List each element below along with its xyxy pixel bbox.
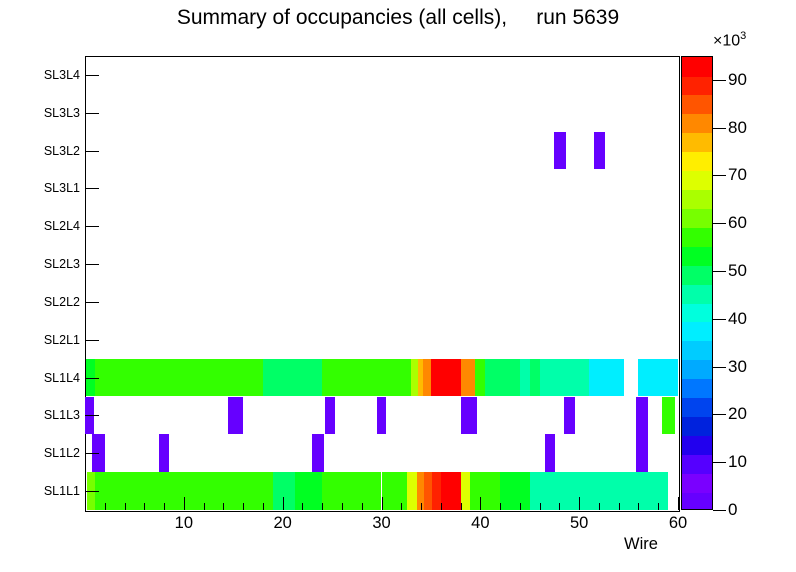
page-title: Summary of occupancies (all cells), run … [0,6,796,30]
x-axis-tick [480,497,481,510]
x-axis-tick [223,503,224,510]
color-bar-band [682,284,712,304]
color-bar-tick-label: 40 [728,309,747,329]
x-axis-tick [599,503,600,510]
color-bar-band [682,57,712,77]
y-axis-tick [85,151,99,152]
root-canvas: Summary of occupancies (all cells), run … [0,0,796,572]
x-axis-tick [500,503,501,510]
x-axis-tick [184,497,185,510]
color-bar-band [682,133,712,153]
x-axis-tick-label: 50 [570,514,588,533]
x-axis-tick [85,503,86,510]
y-axis-tick [85,113,99,114]
x-axis-tick [559,503,560,510]
x-axis-tick-label: 40 [471,514,489,533]
y-axis-tick [85,415,99,416]
x-axis-tick [322,503,323,510]
x-axis-tick [144,503,145,510]
color-bar-tick [713,414,726,415]
y-axis-tick [85,264,99,265]
color-bar-tick [713,367,726,368]
color-bar-exponent-prefix: ×10 [713,32,740,49]
x-axis-tick [283,497,284,510]
x-axis-tick [579,497,580,510]
color-bar-band [682,492,712,510]
color-bar[interactable] [681,56,713,510]
x-axis-tick-label: 30 [372,514,390,533]
color-bar-tick-label: 50 [728,261,747,281]
x-axis-tick [302,503,303,510]
y-axis-tick [85,226,99,227]
color-bar-band [682,473,712,493]
color-bar-tick-label: 10 [728,452,747,472]
color-bar-band [682,341,712,361]
color-bar-tick [713,175,726,176]
x-axis-tick [125,503,126,510]
x-axis-tick [382,497,383,510]
y-axis-tick [85,188,99,189]
color-bar-tick [713,510,726,511]
x-axis-tick [401,503,402,510]
x-axis-ticks [0,56,796,511]
color-bar-tick-label: 0 [728,500,737,520]
color-bar-band [682,171,712,191]
color-bar-band [682,76,712,96]
x-axis-tick [105,503,106,510]
x-axis-tick [204,503,205,510]
x-axis-tick [362,503,363,510]
x-axis-tick [263,503,264,510]
y-axis-tick [85,340,99,341]
color-bar-band [682,95,712,115]
color-bar-band [682,435,712,455]
x-axis-tick [638,503,639,510]
x-axis-tick [441,503,442,510]
color-bar-tick-label: 30 [728,357,747,377]
color-bar-tick [713,271,726,272]
x-axis-tick [421,503,422,510]
y-axis-tick [85,453,99,454]
color-bar-exponent: ×103 [713,30,746,50]
y-axis-tick [85,302,99,303]
x-axis-tick [461,503,462,510]
color-bar-band [682,322,712,342]
x-axis-tick [540,503,541,510]
x-axis-tick [520,503,521,510]
color-bar-tick-label: 80 [728,118,747,138]
color-bar-band [682,398,712,418]
color-bar-exponent-power: 3 [740,30,746,42]
color-bar-tick [713,80,726,81]
color-bar-band [682,265,712,285]
color-bar-tick [713,462,726,463]
y-axis-tick [85,491,99,492]
x-axis-tick-label: 20 [273,514,291,533]
x-axis-tick [678,497,679,510]
color-bar-band [682,189,712,209]
color-bar-band [682,227,712,247]
color-bar-tick-label: 60 [728,213,747,233]
color-bar-band [682,246,712,266]
x-axis-tick [164,503,165,510]
x-axis-title: Wire [624,535,658,554]
color-bar-band [682,379,712,399]
color-bar-tick [713,223,726,224]
y-axis-tick [85,75,99,76]
x-axis-tick-label: 10 [175,514,193,533]
color-bar-band [682,152,712,172]
color-bar-tick [713,319,726,320]
y-axis-tick [85,378,99,379]
color-bar-tick-label: 70 [728,165,747,185]
x-axis-tick [342,503,343,510]
color-bar-tick [713,128,726,129]
color-bar-band [682,454,712,474]
x-axis-tick [619,503,620,510]
x-axis-tick [243,503,244,510]
color-bar-band [682,208,712,228]
x-axis-tick [658,503,659,510]
color-bar-tick-label: 90 [728,70,747,90]
x-axis-tick-label: 60 [669,514,687,533]
color-bar-tick-label: 20 [728,404,747,424]
color-bar-band [682,416,712,436]
color-bar-band [682,360,712,380]
color-bar-band [682,303,712,323]
color-bar-band [682,114,712,134]
